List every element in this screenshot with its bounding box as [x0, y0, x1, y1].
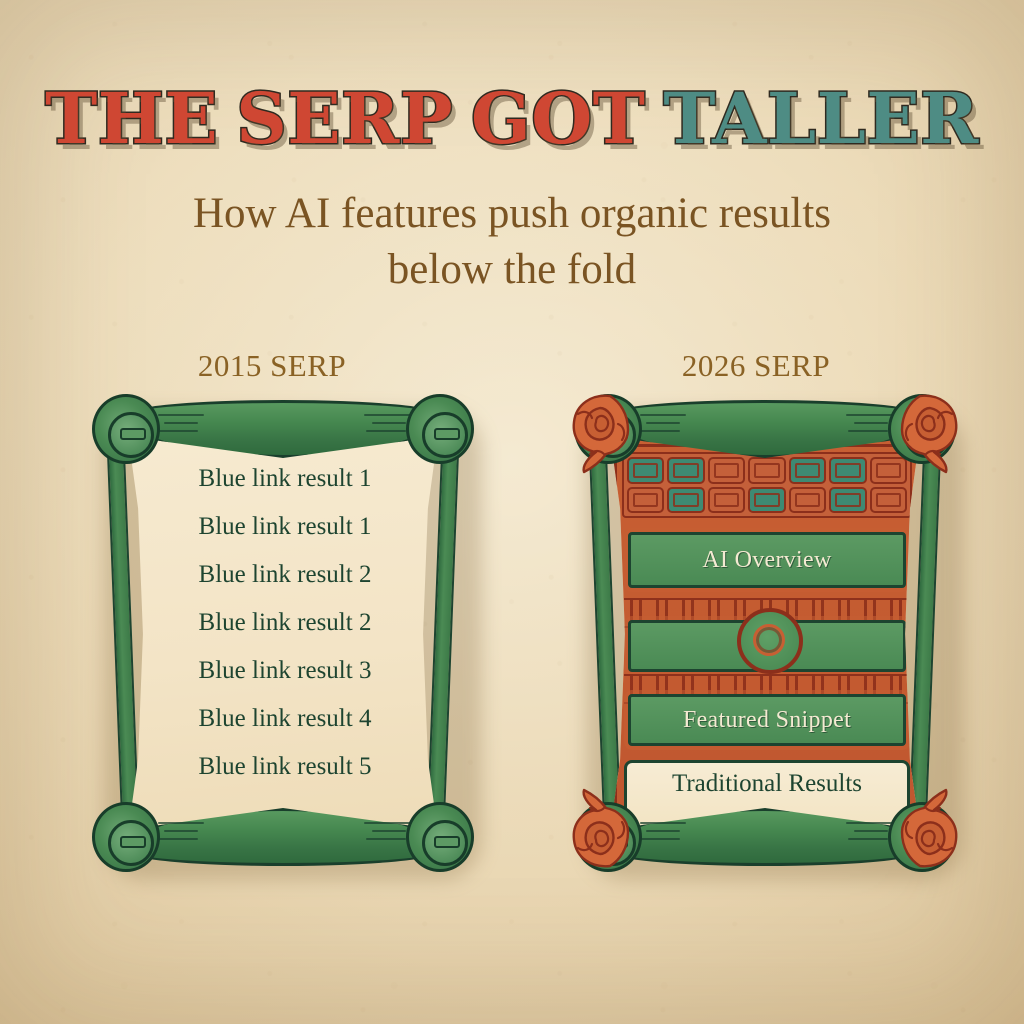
title-word-got: GOT [471, 84, 645, 154]
module-label: Featured Snippet [683, 707, 851, 734]
circular-medallion-ornament [737, 608, 803, 674]
list-item: Blue link result 1 [142, 514, 428, 539]
subtitle-line-1: How AI features push organic results [112, 186, 912, 242]
filigree-ornament-icon [878, 388, 964, 474]
roller-spiral-cap-right [406, 394, 474, 464]
serp-module-ai-overview: AI Overview [628, 532, 906, 588]
blue-link-result-list: Blue link result 1 Blue link result 1 Bl… [124, 466, 444, 802]
module-label: AI Overview [702, 547, 831, 574]
checker-cell [667, 487, 704, 514]
title-word-serp: SERP [236, 84, 453, 154]
page-subtitle: How AI features push organic results bel… [112, 186, 912, 298]
scroll-sheet-2015: Blue link result 1 Blue link result 1 Bl… [122, 438, 444, 830]
scroll-sheet-2026: AI Overview Featured Snippet Traditional… [604, 438, 926, 830]
page-title: THESERPGOTTALLER [0, 84, 1024, 154]
filigree-ornament-icon [566, 788, 652, 874]
traditional-results-heading: Traditional Results [627, 770, 907, 798]
checker-cell [789, 487, 826, 514]
subtitle-line-2: below the fold [112, 242, 912, 298]
roller-crease-lines-right [356, 414, 410, 440]
title-word-the: THE [45, 84, 218, 154]
checker-cell [870, 487, 907, 514]
list-item: Blue link result 3 [142, 658, 428, 683]
checker-cell [627, 487, 664, 514]
list-item: Blue link result 4 [142, 706, 428, 731]
roller-crease-lines-left [158, 414, 212, 440]
roller-crease-lines-left [158, 822, 212, 848]
filigree-ornament-icon [878, 788, 964, 874]
panel-caption-2026: 2026 SERP [606, 348, 906, 384]
panel-caption-2015: 2015 SERP [122, 348, 422, 384]
title-word-taller: TALLER [663, 84, 979, 154]
scroll-2015-serp: Blue link result 1 Blue link result 1 Bl… [88, 392, 478, 874]
scroll-bottom-roller [88, 800, 478, 874]
ornate-serp-body: AI Overview Featured Snippet Traditional… [606, 438, 926, 830]
serp-module-featured-snippet: Featured Snippet [628, 694, 906, 746]
list-item: Blue link result 1 [142, 466, 428, 491]
poster-canvas: THESERPGOTTALLER How AI features push or… [0, 0, 1024, 1024]
roller-spiral-cap-left [92, 802, 160, 872]
scroll-2026-serp: AI Overview Featured Snippet Traditional… [570, 392, 960, 874]
filigree-ornament-icon [566, 388, 652, 474]
list-item: Blue link result 2 [142, 562, 428, 587]
list-item: Blue link result 5 [142, 754, 428, 779]
roller-crease-lines-right [356, 822, 410, 848]
checker-cell [708, 487, 745, 514]
roller-spiral-cap-left [92, 394, 160, 464]
checker-cell [748, 487, 785, 514]
roller-spiral-cap-right [406, 802, 474, 872]
checker-cell [829, 487, 866, 514]
scroll-top-roller [88, 392, 478, 466]
list-item: Blue link result 2 [142, 610, 428, 635]
